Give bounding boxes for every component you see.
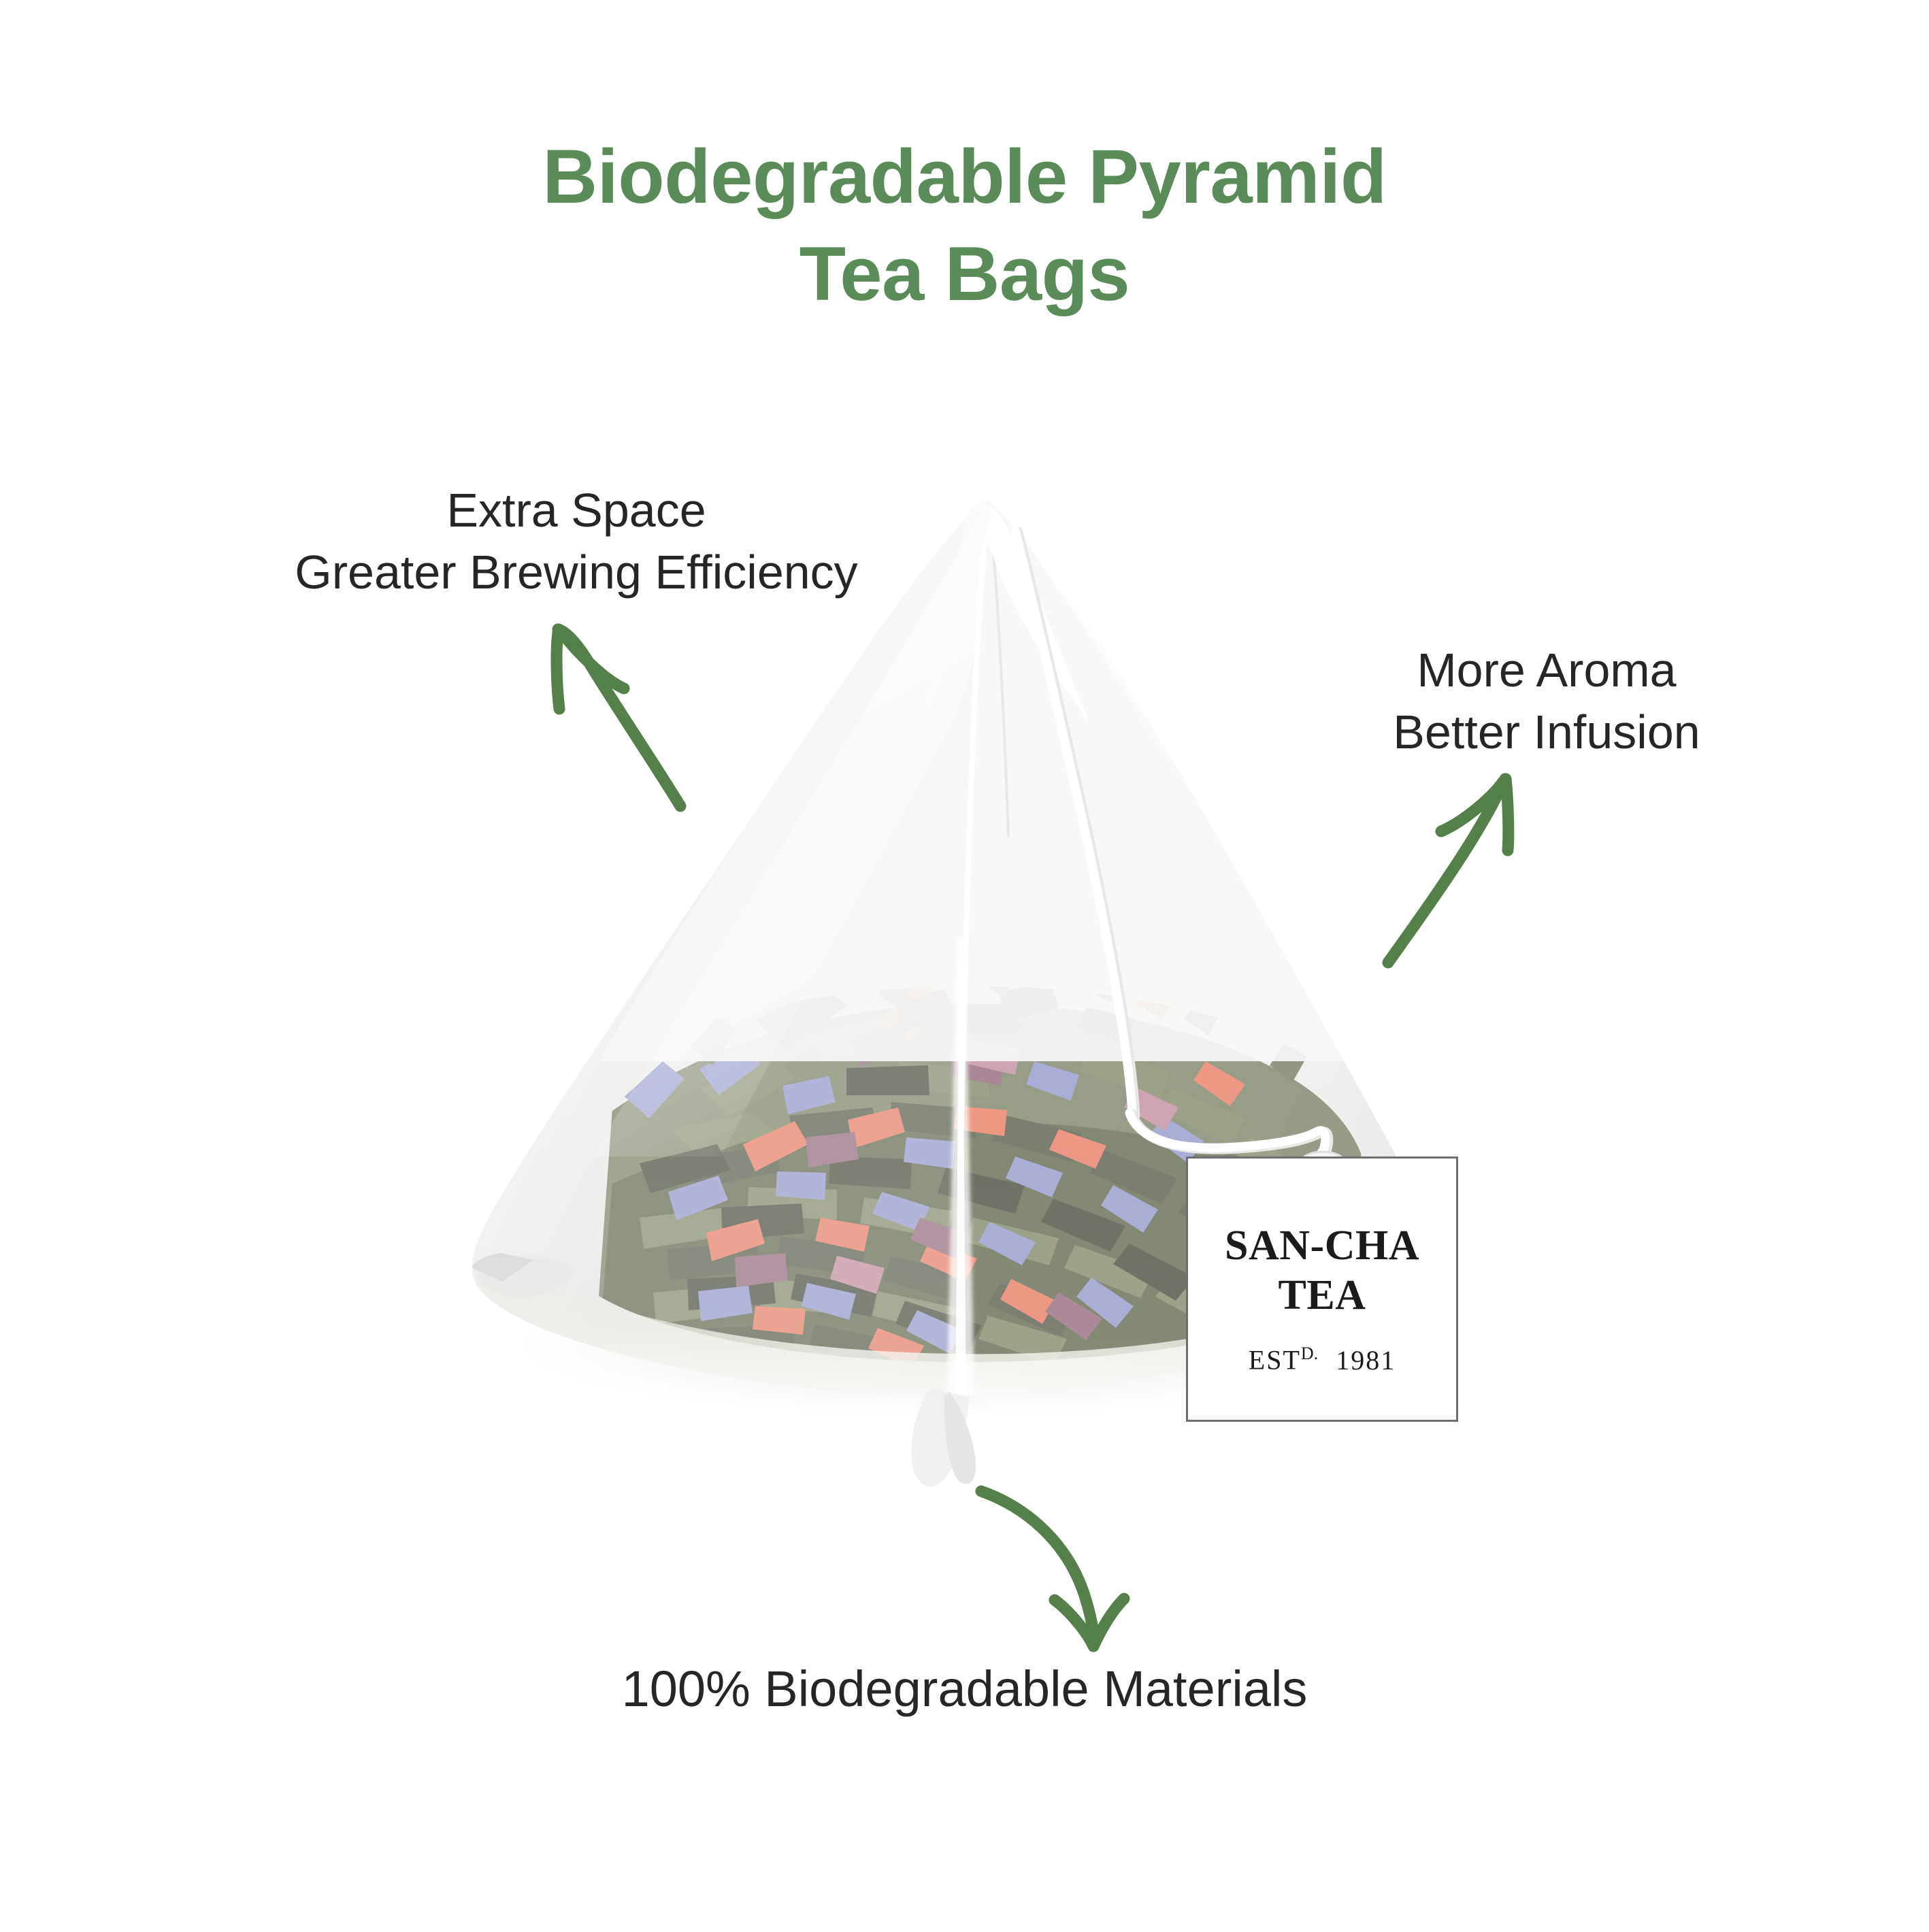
callout-right: More Aroma Better Infusion bbox=[1329, 639, 1764, 763]
callout-left: Extra Space Greater Brewing Efficiency bbox=[205, 480, 947, 603]
arrow-left bbox=[557, 629, 680, 806]
tag-estd-superscript: D. bbox=[1301, 1344, 1318, 1363]
tag-estd-year: 1981 bbox=[1336, 1345, 1396, 1376]
tag-brand-line-1: SAN-CHA bbox=[1225, 1222, 1419, 1269]
callout-left-line-2: Greater Brewing Efficiency bbox=[205, 542, 947, 603]
tag-estd-label: EST bbox=[1249, 1345, 1301, 1376]
tag-estd: ESTD.1981 bbox=[1249, 1344, 1396, 1376]
callout-left-line-1: Extra Space bbox=[205, 480, 947, 542]
tag-brand: SAN-CHA TEA bbox=[1225, 1221, 1419, 1320]
callout-bottom: 100% Biodegradable Materials bbox=[0, 1656, 1929, 1722]
infographic-canvas: Biodegradable Pyramid Tea Bags bbox=[0, 0, 1929, 1929]
brand-tag: SAN-CHA TEA ESTD.1981 bbox=[1186, 1156, 1458, 1422]
tag-brand-line-2: TEA bbox=[1279, 1272, 1366, 1318]
arrow-right bbox=[1388, 779, 1508, 963]
arrow-bottom bbox=[981, 1491, 1124, 1646]
callout-right-line-1: More Aroma bbox=[1329, 639, 1764, 701]
pyramid-tea-bag-illustration bbox=[0, 0, 1929, 1929]
callout-bottom-line-1: 100% Biodegradable Materials bbox=[0, 1656, 1929, 1722]
callout-right-line-2: Better Infusion bbox=[1329, 701, 1764, 763]
